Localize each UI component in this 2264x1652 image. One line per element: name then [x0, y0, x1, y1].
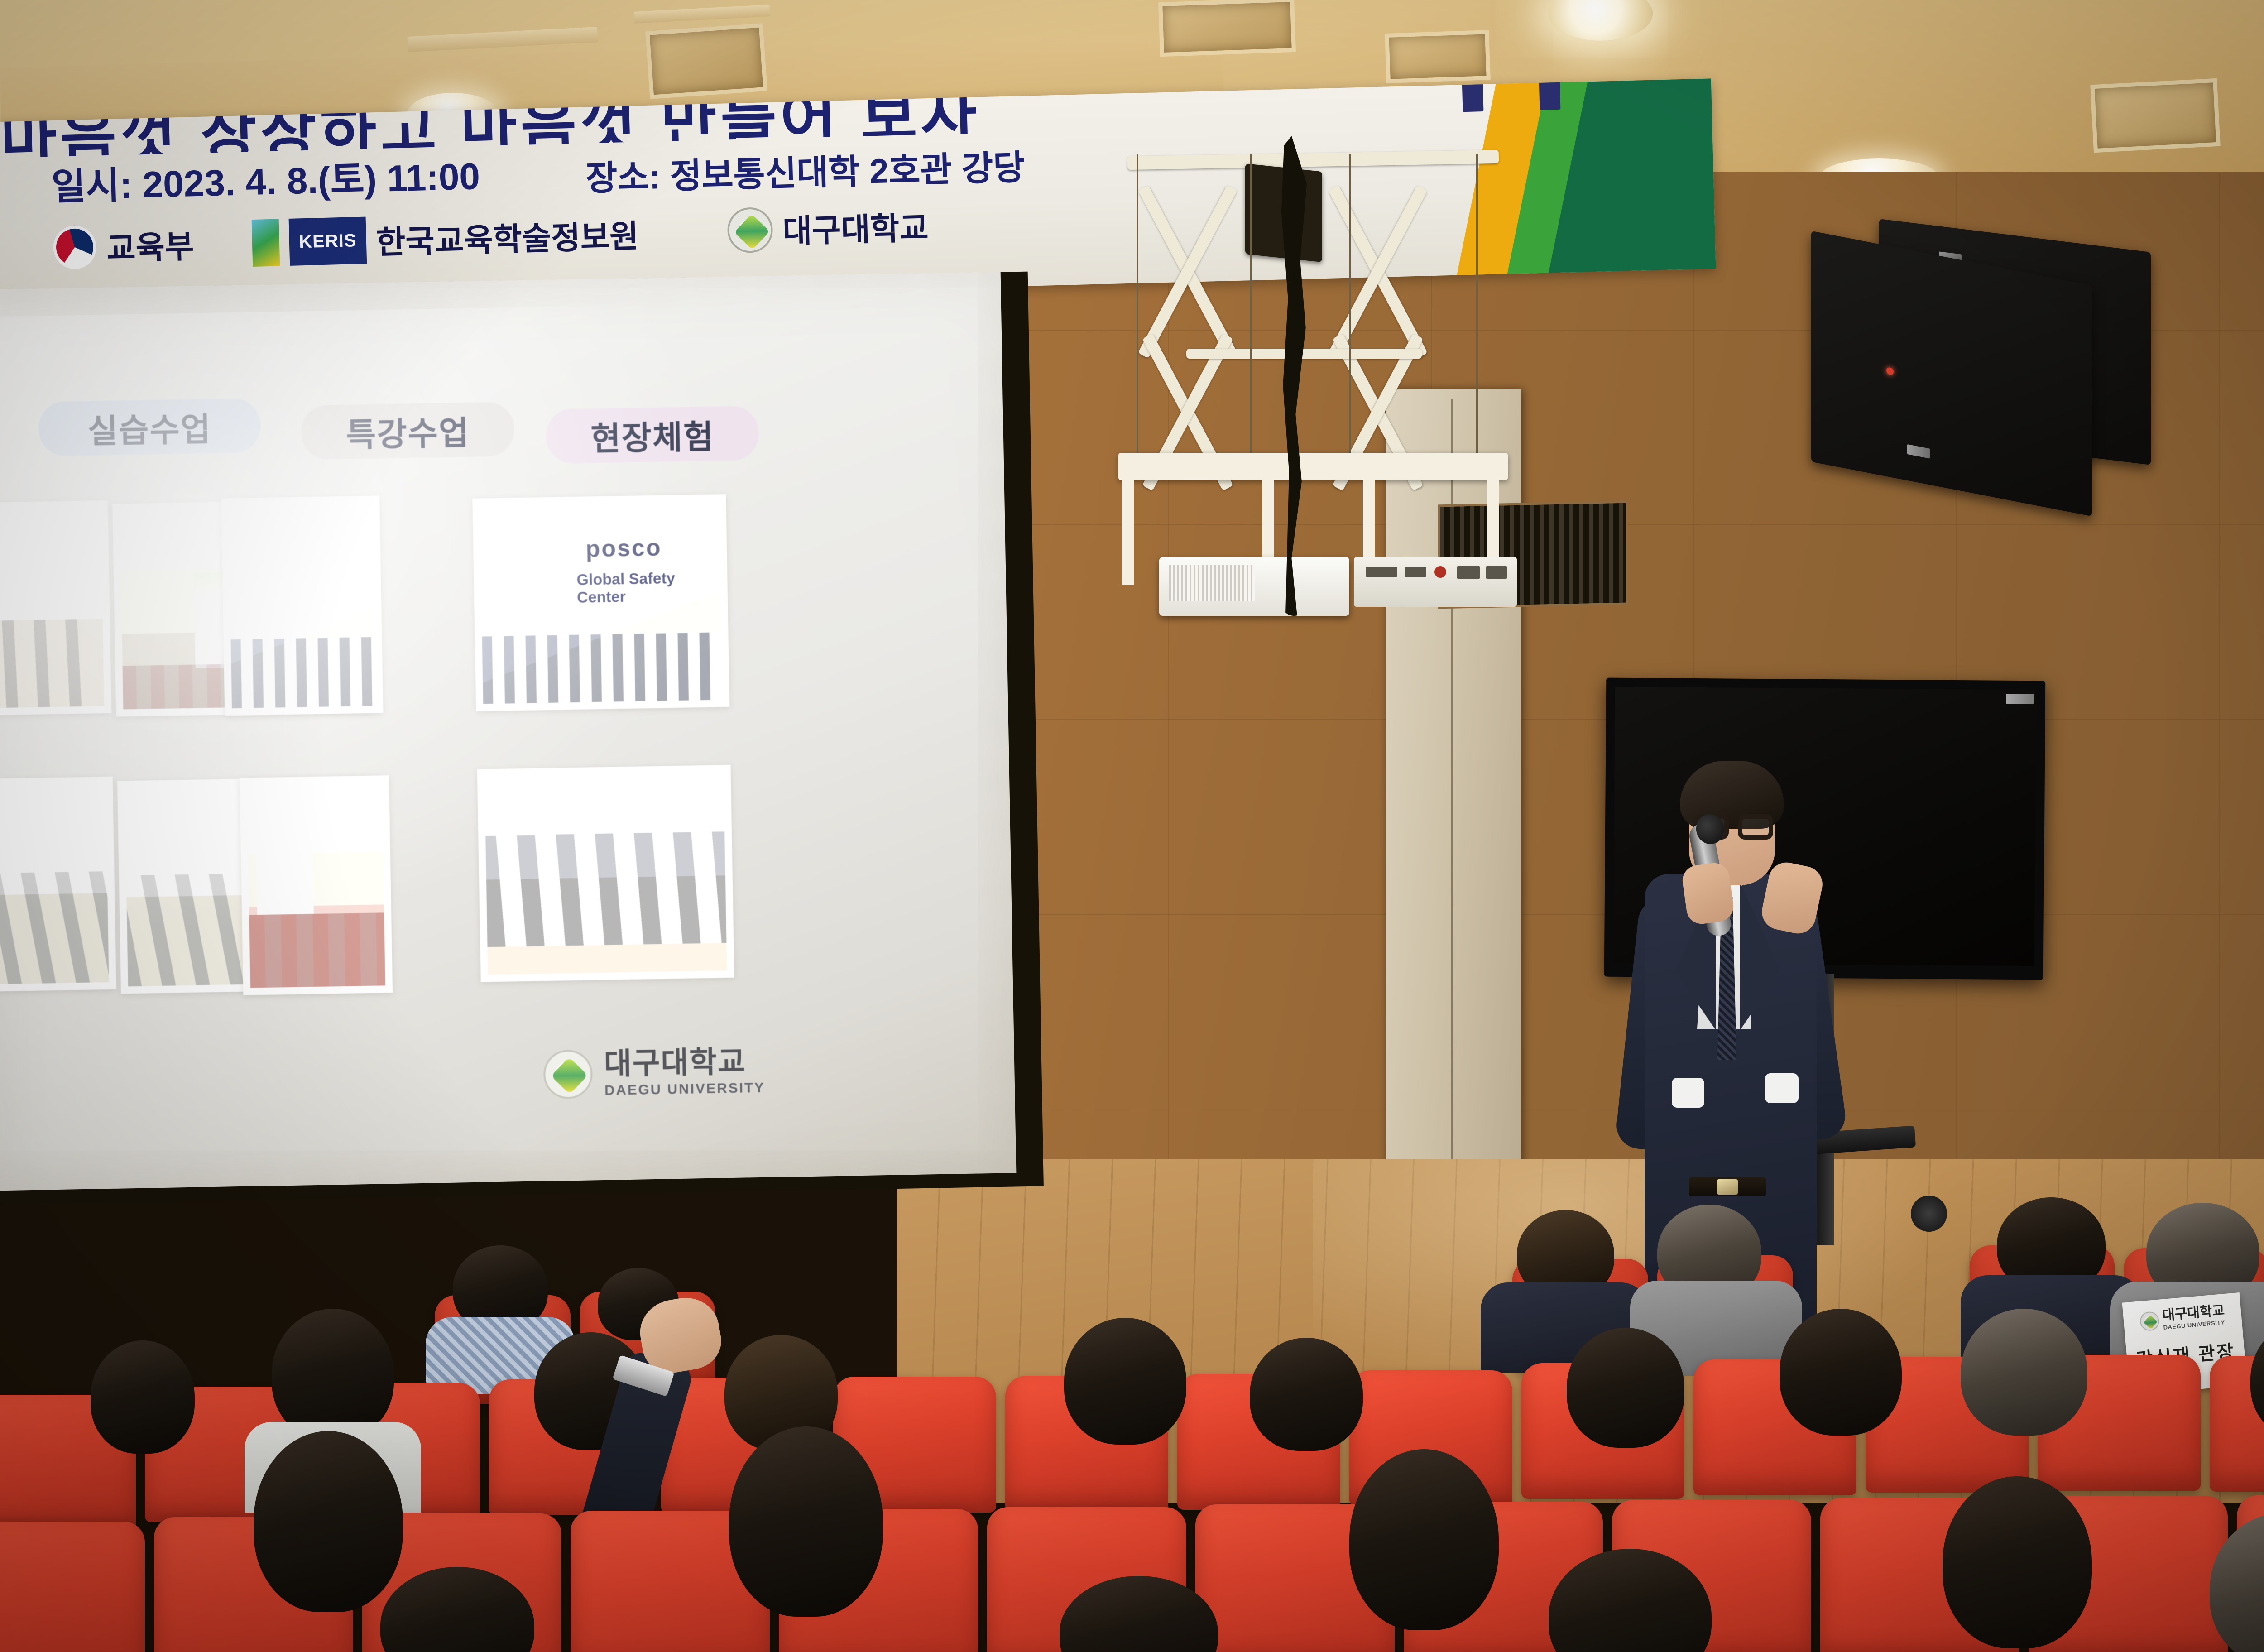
banner-clip-1 — [1462, 80, 1484, 112]
slide-pill-practice: 실습수업 — [38, 398, 261, 456]
ceiling-vent-2 — [2090, 78, 2220, 153]
audience-head — [1961, 1309, 2087, 1436]
slide-footer-logo: 대구대학교 DAEGU UNIVERSITY — [543, 1046, 765, 1100]
presenter-cuff-left — [1672, 1078, 1704, 1108]
daegu-university-seal-icon — [2139, 1311, 2160, 1332]
posco-subtitle: Global Safety Center — [576, 569, 720, 607]
speaker-badge-lower — [1907, 444, 1930, 459]
slide-photo-students — [477, 765, 734, 982]
audience-head — [1064, 1318, 1186, 1445]
ceiling-vent-1 — [645, 23, 767, 99]
sponsor-keris: KERIS 한국교육학술정보원 — [252, 210, 639, 267]
rig-leg-1 — [1122, 476, 1134, 585]
ceiling-vent-3 — [1158, 0, 1296, 57]
banner-date: 일시: 2023. 4. 8.(토) 11:00 — [51, 146, 480, 211]
audience-head — [729, 1426, 883, 1617]
rig-wire-3 — [1349, 154, 1351, 462]
audience-head — [272, 1309, 394, 1440]
slide-logo-en: DAEGU UNIVERSITY — [604, 1080, 765, 1099]
slide-photo-classroom — [0, 500, 111, 716]
slide-photo-posco: posco Global Safety Center — [472, 494, 729, 711]
rig-ceiling-bar — [1127, 150, 1499, 170]
presenter-left-hand — [1680, 861, 1735, 926]
port-vga — [1366, 567, 1397, 577]
speaker-power-led — [1886, 367, 1894, 375]
ceiling-vent-4 — [1385, 30, 1491, 83]
slide-pill-special-lecture: 특강수업 — [301, 402, 515, 460]
slide-photo-lecture-2 — [221, 495, 383, 716]
name-card-org: 대구대학교 DAEGU UNIVERSITY — [2123, 1302, 2242, 1334]
projection-screen: 실습수업 특강수업 현장체험 posco Global Safety Cente… — [0, 272, 1016, 1191]
keris-logo-icon: KERIS — [289, 217, 367, 266]
port-audio — [1486, 566, 1507, 579]
sponsor-daegu-university: 대구대학교 — [727, 202, 929, 253]
presenter-cuff-right — [1765, 1073, 1799, 1103]
sponsor-moe-label: 교육부 — [106, 221, 195, 269]
audience-head — [1943, 1476, 2092, 1648]
banner-clip-2 — [1539, 78, 1561, 110]
projector-cable-bundle — [1281, 136, 1313, 616]
posco-wordmark: posco — [585, 534, 662, 563]
rig-wire-2 — [1250, 154, 1252, 462]
audience-head — [91, 1340, 195, 1454]
taegeuk-emblem-icon — [53, 225, 97, 269]
glasses-right-lens-icon — [1738, 814, 1773, 840]
port-power-led — [1434, 566, 1446, 578]
audience-head — [1780, 1309, 1902, 1436]
rig-carriage-frame — [1118, 453, 1508, 480]
port-lan — [1457, 566, 1480, 579]
sponsor-du-label: 대구대학교 — [782, 202, 929, 252]
daegu-university-seal-icon — [543, 1049, 593, 1099]
slide-photo-lab — [0, 777, 116, 992]
projector-port-panel — [1354, 557, 1517, 607]
audience-seating: 대구대학교 DAEGU UNIVERSITY 강신재 관장 — [0, 1159, 2264, 1652]
slide-pill-field-experience: 현장체험 — [546, 406, 759, 464]
slide-logo-ko: 대구대학교 — [604, 1046, 765, 1079]
auditorium-scene: 마음껏 상상하고 마음껏 만들어 보자 일시: 2023. 4. 8.(토) 1… — [0, 0, 2264, 1652]
display-brand-logo-icon — [2006, 694, 2034, 704]
slide-photo-hall — [240, 775, 393, 995]
rig-wire-4 — [1476, 154, 1478, 462]
banner-place: 장소: 정보통신대학 2호관 강당 — [585, 139, 1025, 201]
keris-chip-icon — [252, 219, 280, 266]
audience-head — [1250, 1338, 1363, 1451]
projector-vent-grill — [1169, 565, 1255, 601]
port-hdmi — [1405, 567, 1426, 577]
rig-wire-1 — [1137, 154, 1138, 462]
audience-head — [1567, 1328, 1684, 1448]
seat[interactable] — [0, 1522, 145, 1652]
daegu-university-seal-icon — [727, 206, 773, 253]
projector-lift-rig — [1118, 136, 1517, 571]
sponsor-keris-label: 한국교육학술정보원 — [376, 211, 639, 263]
audience-head — [1349, 1449, 1499, 1630]
audience-head — [254, 1431, 403, 1612]
sponsor-moe: 교육부 — [53, 221, 195, 270]
